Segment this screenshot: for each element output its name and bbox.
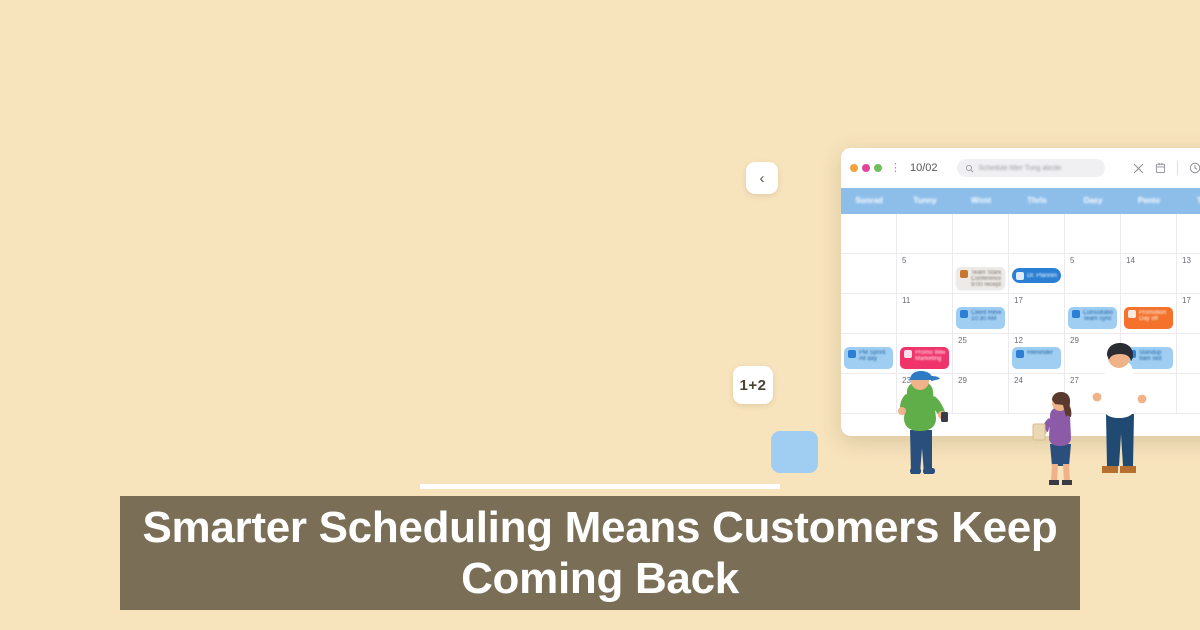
event-line1: Reminder bbox=[1027, 350, 1057, 356]
weekday-cell: Wnnt bbox=[953, 188, 1009, 214]
weekday-label: Tunny bbox=[913, 197, 936, 205]
color-swatch-blue[interactable] bbox=[771, 431, 818, 473]
day-number: 17 bbox=[1182, 297, 1200, 305]
calendar-day-cell[interactable]: 5 bbox=[1065, 254, 1121, 294]
person-standing bbox=[1086, 340, 1152, 492]
calendar-day-cell[interactable]: Client Review10:30 AM bbox=[953, 294, 1009, 334]
weekday-cell: Thrls bbox=[1009, 188, 1065, 214]
weekday-label: Thrls bbox=[1027, 197, 1047, 205]
weekday-cell: Dasy bbox=[1065, 188, 1121, 214]
day-number: 13 bbox=[1182, 257, 1200, 265]
count-badge-label: 1+2 bbox=[740, 377, 767, 394]
window-minimize-dot[interactable] bbox=[862, 164, 870, 172]
search-placeholder: Schedule filter Tung abcde bbox=[979, 165, 1062, 172]
weekday-header: Sunrad Tunny Wnnt Thrls Dasy Pento Tafu bbox=[841, 188, 1200, 214]
event-text: PM SprintAll day bbox=[859, 350, 889, 362]
event-line3: 9:00 reception bbox=[971, 282, 1001, 288]
search-input[interactable]: Schedule filter Tung abcde bbox=[957, 159, 1105, 177]
weekday-cell: Pento bbox=[1121, 188, 1177, 214]
calendar-day-cell[interactable] bbox=[841, 214, 897, 254]
event-text: Promo WeekMarketing bbox=[915, 350, 945, 362]
calendar-day-cell[interactable] bbox=[897, 214, 953, 254]
weekday-label: Dasy bbox=[1083, 197, 1102, 205]
calendar-icon[interactable] bbox=[1155, 162, 1166, 174]
window-controls[interactable] bbox=[850, 164, 882, 172]
event-text: Client Review10:30 AM bbox=[971, 310, 1001, 322]
calendar-day-cell[interactable] bbox=[1177, 334, 1200, 374]
calendar-day-cell[interactable] bbox=[841, 294, 897, 334]
event-type-icon bbox=[1016, 350, 1024, 358]
weekday-cell: Sunrad bbox=[841, 188, 897, 214]
calendar-day-cell[interactable] bbox=[1065, 214, 1121, 254]
calendar-day-cell[interactable]: Dr. Planning bbox=[1009, 254, 1065, 294]
count-badge[interactable]: 1+2 bbox=[733, 366, 773, 404]
event-type-icon bbox=[904, 350, 912, 358]
day-number: 14 bbox=[1126, 257, 1176, 265]
event-text: Reminder bbox=[1027, 350, 1057, 356]
day-number: 11 bbox=[902, 297, 952, 305]
calendar-day-cell[interactable] bbox=[953, 214, 1009, 254]
calendar-day-cell[interactable]: 11 bbox=[897, 294, 953, 334]
weekday-label: Wnnt bbox=[971, 197, 991, 205]
toolbar-divider bbox=[1177, 161, 1178, 175]
calendar-day-cell[interactable]: ConsultationTeam sync bbox=[1065, 294, 1121, 334]
event-type-icon bbox=[960, 310, 968, 318]
window-maximize-dot[interactable] bbox=[874, 164, 882, 172]
calendar-day-cell[interactable] bbox=[1177, 214, 1200, 254]
overflow-menu-icon[interactable]: ⋮ bbox=[890, 163, 901, 174]
calendar-day-cell[interactable]: 14 bbox=[1121, 254, 1177, 294]
calendar-event-chip[interactable]: PM SprintAll day bbox=[844, 347, 893, 369]
calendar-day-cell[interactable]: 12Reminder bbox=[1009, 334, 1065, 374]
search-icon bbox=[965, 164, 974, 173]
title-divider bbox=[420, 484, 780, 489]
calendar-event-chip[interactable]: PromotionDay off bbox=[1124, 307, 1173, 329]
current-date-label: 10/02 bbox=[910, 162, 938, 174]
event-type-icon bbox=[1072, 310, 1080, 318]
toolbar-actions bbox=[1133, 161, 1200, 175]
calendar-event-chip[interactable]: Client Review10:30 AM bbox=[956, 307, 1005, 329]
calendar-day-cell[interactable] bbox=[1177, 374, 1200, 414]
calendar-prev-button[interactable]: ‹ bbox=[746, 162, 778, 194]
day-number: 29 bbox=[958, 377, 1008, 385]
title-banner: Smarter Scheduling Means Customers Keep … bbox=[120, 496, 1080, 610]
event-type-icon bbox=[960, 270, 968, 278]
calendar-day-cell[interactable]: 17 bbox=[1177, 294, 1200, 334]
calendar-day-cell[interactable]: 29 bbox=[953, 374, 1009, 414]
calendar-day-cell[interactable] bbox=[1009, 214, 1065, 254]
event-text: ConsultationTeam sync bbox=[1083, 310, 1113, 322]
window-close-dot[interactable] bbox=[850, 164, 858, 172]
person-with-tablet bbox=[1032, 390, 1088, 490]
event-type-icon bbox=[848, 350, 856, 358]
event-text: PromotionDay off bbox=[1139, 310, 1169, 322]
day-number: 5 bbox=[902, 257, 952, 265]
event-line2: All day bbox=[859, 356, 889, 362]
weekday-cell: Tafu bbox=[1177, 188, 1200, 214]
day-number: 12 bbox=[1014, 337, 1064, 345]
page-title: Smarter Scheduling Means Customers Keep … bbox=[134, 502, 1066, 604]
calendar-event-chip[interactable]: Promo WeekMarketing bbox=[900, 347, 949, 369]
chevron-left-icon: ‹ bbox=[760, 171, 765, 186]
event-line1: Dr. Planning bbox=[1027, 273, 1057, 279]
calendar-day-cell[interactable]: Team StandupConference9:00 reception bbox=[953, 254, 1009, 294]
person-with-phone bbox=[880, 368, 958, 498]
calendar-day-cell[interactable]: PromotionDay off bbox=[1121, 294, 1177, 334]
day-number: 25 bbox=[958, 337, 1008, 345]
clock-icon[interactable] bbox=[1189, 162, 1200, 174]
calendar-day-cell[interactable]: 25 bbox=[953, 334, 1009, 374]
poster-canvas: ‹ 1+2 ⋮ 10/02 Schedule filter Tung abcde bbox=[0, 0, 1200, 630]
event-line2: 10:30 AM bbox=[971, 316, 1001, 322]
calendar-event-chip[interactable]: Dr. Planning bbox=[1012, 268, 1061, 283]
event-line2: Marketing bbox=[915, 356, 945, 362]
event-line2: Team sync bbox=[1083, 316, 1113, 322]
calendar-toolbar: ⋮ 10/02 Schedule filter Tung abcde bbox=[841, 148, 1200, 188]
calendar-day-cell[interactable] bbox=[841, 254, 897, 294]
calendar-day-cell[interactable]: 5 bbox=[897, 254, 953, 294]
calendar-day-cell[interactable]: 13 bbox=[1177, 254, 1200, 294]
day-number: 17 bbox=[1014, 297, 1064, 305]
calendar-event-chip[interactable]: ConsultationTeam sync bbox=[1068, 307, 1117, 329]
day-number: 5 bbox=[1070, 257, 1120, 265]
calendar-event-chip[interactable]: Team StandupConference9:00 reception bbox=[956, 267, 1005, 289]
event-type-icon bbox=[1128, 310, 1136, 318]
event-line2: Day off bbox=[1139, 316, 1169, 322]
weekday-label: Pento bbox=[1138, 197, 1160, 205]
calendar-day-cell[interactable] bbox=[1121, 214, 1177, 254]
shuffle-icon[interactable] bbox=[1133, 163, 1144, 174]
event-type-icon bbox=[1016, 272, 1024, 280]
event-text: Team StandupConference9:00 reception bbox=[971, 270, 1001, 288]
day-number: 24 bbox=[1014, 377, 1064, 385]
weekday-label: Sunrad bbox=[855, 197, 883, 205]
weekday-cell: Tunny bbox=[897, 188, 953, 214]
calendar-event-chip[interactable]: Reminder bbox=[1012, 347, 1061, 369]
calendar-day-cell[interactable]: 17 bbox=[1009, 294, 1065, 334]
event-text: Dr. Planning bbox=[1027, 273, 1057, 279]
